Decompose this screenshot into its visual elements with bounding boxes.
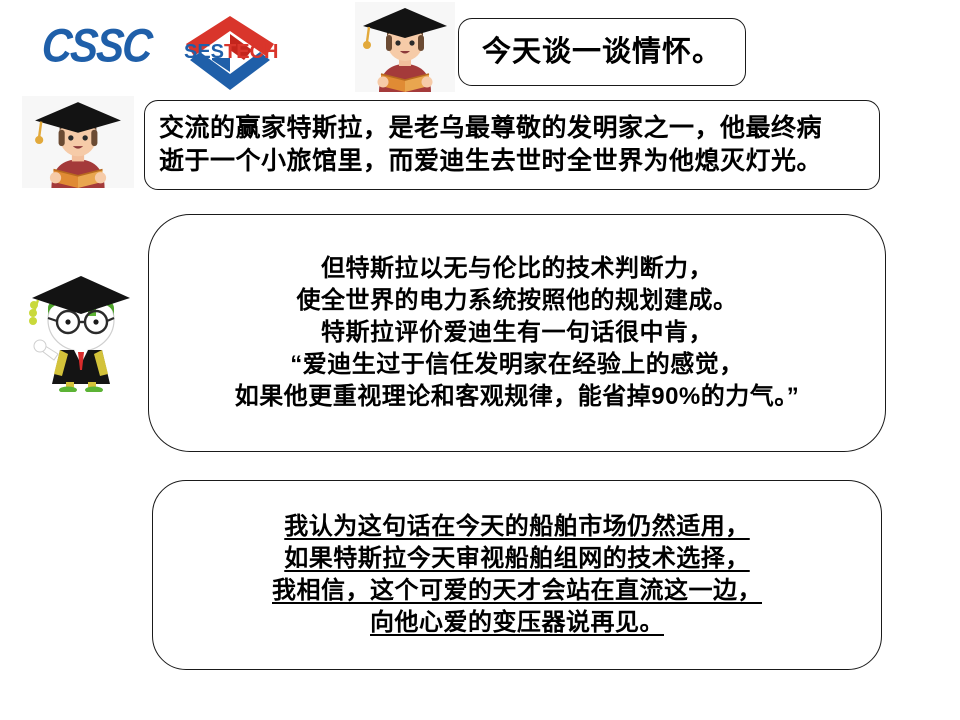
quote-line-3: 特斯拉评价爱迪生有一句话很中肯，	[321, 317, 713, 349]
graduate-student-with-book-icon	[22, 96, 134, 188]
sestech-logo-text-right: TECH	[224, 41, 278, 63]
conclusion-line-3: 我相信，这个可爱的天才会站在直流这一边，	[272, 575, 762, 607]
intro-line-2: 逝于一个小旅馆里，而爱迪生去世时全世界为他熄灭灯光。	[159, 145, 822, 179]
quote-line-5: 如果他更重视理论和客观规律，能省掉90%的力气。”	[235, 381, 800, 413]
graduate-student-with-book-icon	[355, 2, 455, 92]
conclusion-speech-bubble: 我认为这句话在今天的船舶市场仍然适用， 如果特斯拉今天审视船舶组网的技术选择， …	[152, 480, 882, 670]
intro-line-1: 交流的赢家特斯拉，是老乌最尊敬的发明家之一，他最终病	[159, 112, 822, 146]
sestech-logo-text-left: SES	[184, 41, 224, 63]
cssc-logo-text: CSSC	[40, 22, 152, 69]
quote-line-1: 但特斯拉以无与伦比的技术判断力，	[321, 253, 713, 285]
conclusion-line-2: 如果特斯拉今天审视船舶组网的技术选择，	[284, 543, 750, 575]
cssc-logo: CSSC	[22, 20, 170, 72]
quote-line-2: 使全世界的电力系统按照他的规划建成。	[297, 285, 738, 317]
sestech-logo: SES TECH	[176, 8, 284, 94]
slide-canvas: CSSC SES TECH	[0, 0, 960, 720]
intro-speech-bubble: 交流的赢家特斯拉，是老乌最尊敬的发明家之一，他最终病 逝于一个小旅馆里，而爱迪生…	[144, 100, 880, 190]
quote-line-4: “爱迪生过于信任发明家在经验上的感觉，	[290, 349, 744, 381]
title-speech-bubble: 今天谈一谈情怀。	[458, 18, 746, 86]
title-line: 今天谈一谈情怀。	[482, 33, 722, 72]
conclusion-line-1: 我认为这句话在今天的船舶市场仍然适用，	[284, 511, 750, 543]
green-haired-graduate-mascot-icon	[18, 258, 144, 392]
conclusion-line-4: 向他心爱的变压器说再见。	[370, 607, 664, 639]
quote-speech-bubble: 但特斯拉以无与伦比的技术判断力， 使全世界的电力系统按照他的规划建成。 特斯拉评…	[148, 214, 886, 452]
